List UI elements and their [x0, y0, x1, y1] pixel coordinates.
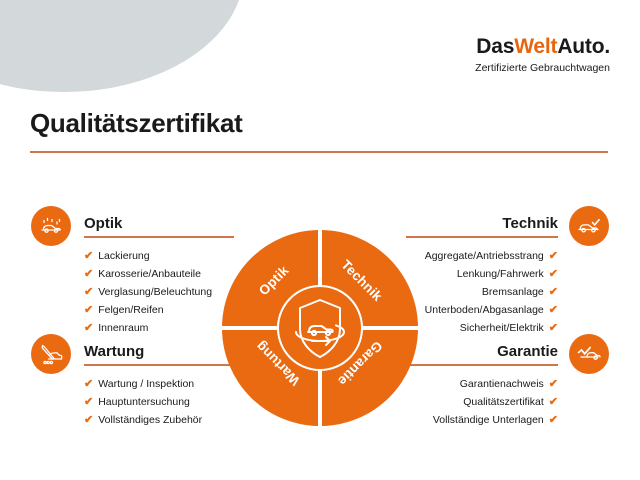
block-wartung-title: Wartung [84, 343, 144, 360]
block-garantie-divider [406, 364, 558, 366]
block-wartung: Wartung ✔Wartung / Inspektion ✔Hauptunte… [84, 336, 234, 429]
list-item: ✔Innenraum [84, 319, 234, 337]
list-item: Sicherheit/Elektrik✔ [406, 319, 558, 337]
list-item: ✔Felgen/Reifen [84, 301, 234, 319]
check-icon: ✔ [84, 268, 93, 280]
brand-tagline: Zertifizierte Gebrauchtwagen [475, 63, 610, 74]
page-title: Qualitätszertifikat [30, 108, 242, 139]
check-icon: ✔ [549, 286, 558, 298]
check-icon: ✔ [549, 268, 558, 280]
block-optik-divider [84, 236, 234, 238]
list-item-label: Innenraum [98, 322, 148, 334]
list-item: Lenkung/Fahrwerk✔ [406, 265, 558, 283]
car-check-icon [569, 206, 609, 246]
check-icon: ✔ [84, 250, 93, 262]
block-wartung-head: Wartung [84, 336, 234, 362]
list-item-label: Unterboden/Abgasanlage [425, 304, 544, 316]
list-item-label: Karosserie/Anbauteile [98, 268, 201, 280]
list-item: ✔Lackierung [84, 247, 234, 265]
list-item-label: Wartung / Inspektion [98, 378, 194, 390]
block-technik-head: Technik [406, 208, 558, 234]
check-icon: ✔ [84, 304, 93, 316]
list-item-label: Hauptuntersuchung [98, 396, 190, 408]
check-icon: ✔ [549, 250, 558, 262]
decorative-corner-blob [0, 0, 244, 92]
car-checkmark-icon [569, 334, 609, 374]
brand-name: DasWeltAuto. [475, 36, 610, 57]
block-wartung-divider [84, 364, 234, 366]
center-donut-diagram: Optik Technik Wartung Garantie [220, 228, 420, 428]
list-item-label: Sicherheit/Elektrik [460, 322, 544, 334]
block-garantie-head: Garantie [406, 336, 558, 362]
block-optik-head: Optik [84, 208, 234, 234]
block-optik-title: Optik [84, 215, 122, 232]
check-icon: ✔ [84, 414, 93, 426]
check-icon: ✔ [84, 396, 93, 408]
list-item: Aggregate/Antriebsstrang✔ [406, 247, 558, 265]
list-item-label: Lackierung [98, 250, 149, 262]
list-item: ✔Verglasung/Beleuchtung [84, 283, 234, 301]
list-item-label: Aggregate/Antriebsstrang [425, 250, 544, 262]
sparkle-car-icon [31, 206, 71, 246]
block-technik-list: Aggregate/Antriebsstrang✔ Lenkung/Fahrwe… [406, 247, 558, 337]
block-garantie-title: Garantie [497, 343, 558, 360]
list-item-label: Qualitätszertifikat [463, 396, 544, 408]
block-garantie: Garantie Garantienachweis✔ Qualitätszert… [406, 336, 558, 429]
check-icon: ✔ [549, 414, 558, 426]
list-item: Bremsanlage✔ [406, 283, 558, 301]
list-item: ✔Wartung / Inspektion [84, 375, 234, 393]
check-icon: ✔ [84, 286, 93, 298]
list-item-label: Felgen/Reifen [98, 304, 163, 316]
brand-name-highlight: Welt [514, 35, 557, 58]
block-technik-title: Technik [502, 215, 558, 232]
list-item-label: Vollständiges Zubehör [98, 414, 202, 426]
check-icon: ✔ [84, 322, 93, 334]
block-optik: Optik ✔Lackierung ✔Karosserie/Anbauteile… [84, 208, 234, 337]
list-item: ✔Hauptuntersuchung [84, 393, 234, 411]
list-item-label: Bremsanlage [482, 286, 544, 298]
list-item: ✔Vollständiges Zubehör [84, 411, 234, 429]
list-item: ✔Karosserie/Anbauteile [84, 265, 234, 283]
list-item-label: Lenkung/Fahrwerk [457, 268, 544, 280]
block-optik-list: ✔Lackierung ✔Karosserie/Anbauteile ✔Verg… [84, 247, 234, 337]
check-icon: ✔ [549, 378, 558, 390]
brand-name-part2: Auto. [557, 35, 610, 58]
title-divider [30, 151, 608, 153]
list-item-label: Vollständige Unterlagen [433, 414, 544, 426]
check-icon: ✔ [549, 396, 558, 408]
brand-name-part1: Das [476, 35, 514, 58]
list-item: Unterboden/Abgasanlage✔ [406, 301, 558, 319]
check-icon: ✔ [84, 378, 93, 390]
block-wartung-list: ✔Wartung / Inspektion ✔Hauptuntersuchung… [84, 375, 234, 429]
block-technik-divider [406, 236, 558, 238]
list-item: Vollständige Unterlagen✔ [406, 411, 558, 429]
wrench-car-icon [31, 334, 71, 374]
list-item: Qualitätszertifikat✔ [406, 393, 558, 411]
block-technik: Technik Aggregate/Antriebsstrang✔ Lenkun… [406, 208, 558, 337]
list-item-label: Verglasung/Beleuchtung [98, 286, 212, 298]
block-garantie-list: Garantienachweis✔ Qualitätszertifikat✔ V… [406, 375, 558, 429]
check-icon: ✔ [549, 304, 558, 316]
brand-logo: DasWeltAuto. Zertifizierte Gebrauchtwage… [475, 36, 610, 74]
list-item: Garantienachweis✔ [406, 375, 558, 393]
list-item-label: Garantienachweis [460, 378, 544, 390]
check-icon: ✔ [549, 322, 558, 334]
certificate-page: DasWeltAuto. Zertifizierte Gebrauchtwage… [0, 0, 640, 480]
